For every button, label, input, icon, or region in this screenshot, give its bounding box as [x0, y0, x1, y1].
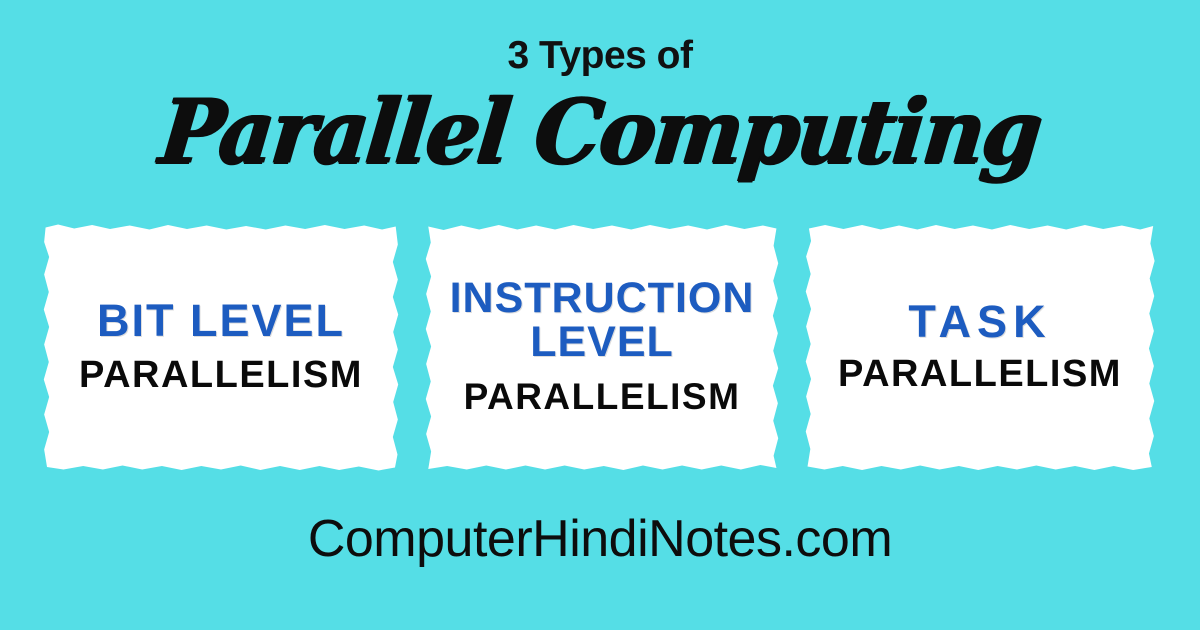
card-3-blue-line-1: TASK	[908, 299, 1051, 345]
card-instruction-level-parallelism: INSTRUCTION LEVEL PARALLELISM	[424, 222, 780, 472]
card-task-parallelism: TASK PARALLELISM	[804, 222, 1156, 472]
footer: ComputerHindiNotes.com	[0, 508, 1200, 570]
site-url-text: ComputerHindiNotes.com	[0, 508, 1200, 570]
card-2-black-line: PARALLELISM	[464, 378, 741, 417]
heading-block: 3 Types of Parallel Computing	[0, 34, 1200, 180]
poster-canvas: 3 Types of Parallel Computing BIT LEVEL …	[0, 0, 1200, 630]
heading-kicker: 3 Types of	[0, 34, 1200, 78]
card-1-black-line: PARALLELISM	[79, 356, 363, 396]
heading-script-title: Parallel Computing	[0, 81, 1200, 183]
card-3-black-line: PARALLELISM	[838, 355, 1122, 395]
card-bit-level-parallelism: BIT LEVEL PARALLELISM	[42, 222, 400, 472]
cards-row: BIT LEVEL PARALLELISM INSTRUCTION LEVEL …	[0, 222, 1200, 472]
card-2-blue-line-1: INSTRUCTION	[450, 277, 755, 321]
card-1-blue-line-1: BIT LEVEL	[97, 298, 345, 344]
card-2-blue-line-2: LEVEL	[530, 321, 674, 365]
